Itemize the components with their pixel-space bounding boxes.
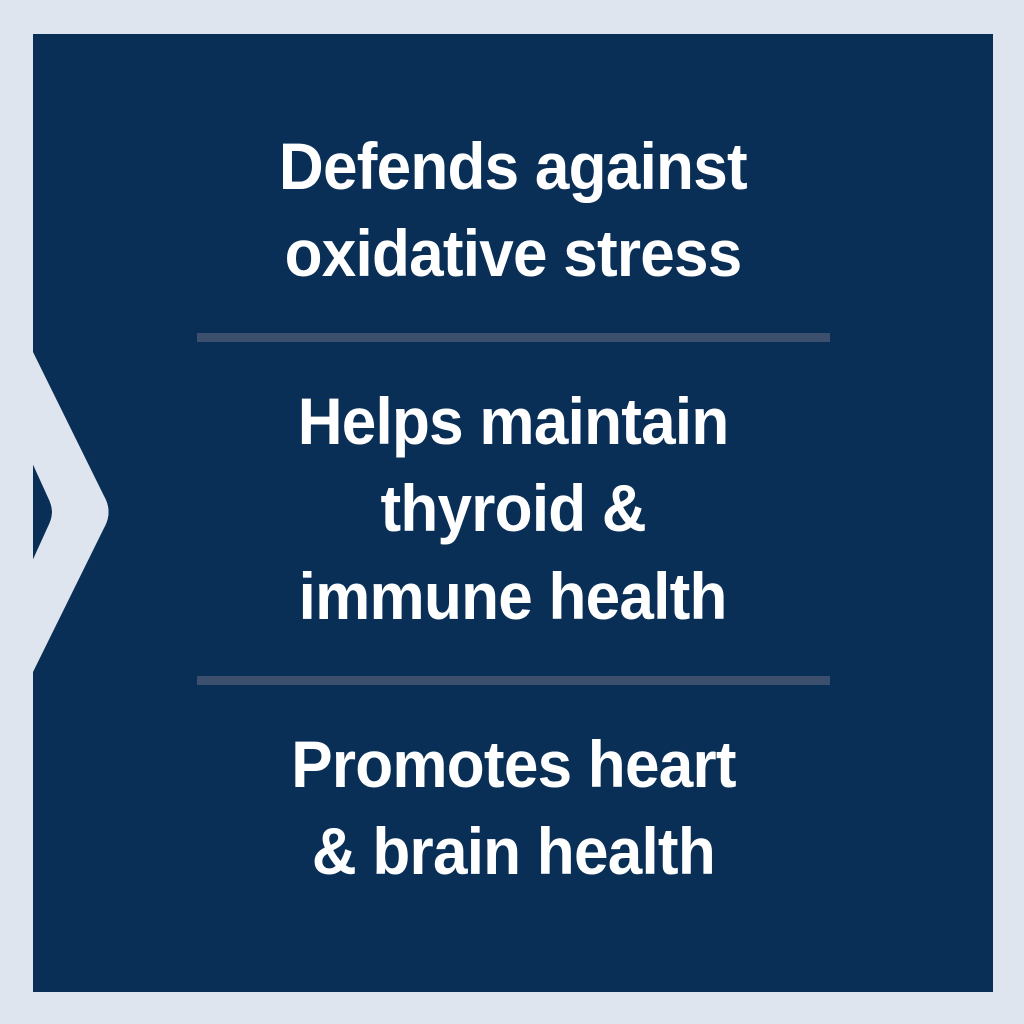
benefits-panel: Defends against oxidative stress Helps m… <box>33 34 993 992</box>
benefit-line: Defends against <box>279 123 747 210</box>
benefit-item-oxidative-stress: Defends against oxidative stress <box>95 123 931 297</box>
benefit-line: thyroid & <box>380 465 646 552</box>
benefit-item-thyroid-immune: Helps maintain thyroid & immune health <box>95 378 931 639</box>
benefit-divider <box>197 333 830 342</box>
benefit-item-heart-brain: Promotes heart & brain health <box>95 721 931 895</box>
benefit-line: immune health <box>299 553 727 640</box>
benefit-line: Promotes heart <box>291 721 736 808</box>
benefit-divider <box>197 676 830 685</box>
benefit-line: Helps maintain <box>298 378 729 465</box>
benefits-list: Defends against oxidative stress Helps m… <box>33 34 993 992</box>
benefit-line: oxidative stress <box>285 210 742 297</box>
benefit-line: & brain health <box>311 808 714 895</box>
benefits-graphic: Defends against oxidative stress Helps m… <box>0 0 1024 1024</box>
